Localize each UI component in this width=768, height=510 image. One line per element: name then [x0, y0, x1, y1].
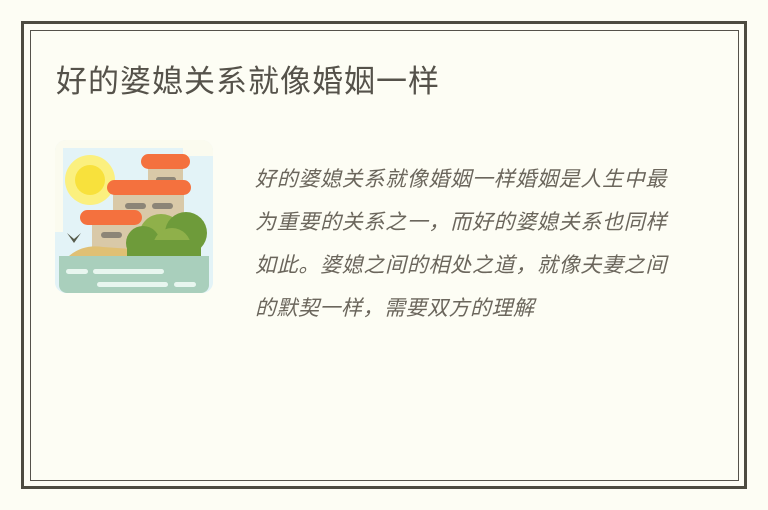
- article-thumbnail[interactable]: [55, 140, 213, 293]
- article-body: 好的婆媳关系就像婚姻一样婚姻是人生中最为重要的关系之一，而好的婆媳关系也同样如此…: [55, 140, 715, 330]
- article-paragraph: 好的婆媳关系就像婚姻一样婚姻是人生中最为重要的关系之一，而好的婆媳关系也同样如此…: [255, 140, 667, 330]
- page-title: 好的婆媳关系就像婚姻一样: [56, 62, 440, 102]
- article-card: 好的婆媳关系就像婚姻一样: [0, 0, 768, 510]
- seaside-houses-illustration: [55, 140, 213, 293]
- card-content: 好的婆媳关系就像婚姻一样: [30, 30, 739, 481]
